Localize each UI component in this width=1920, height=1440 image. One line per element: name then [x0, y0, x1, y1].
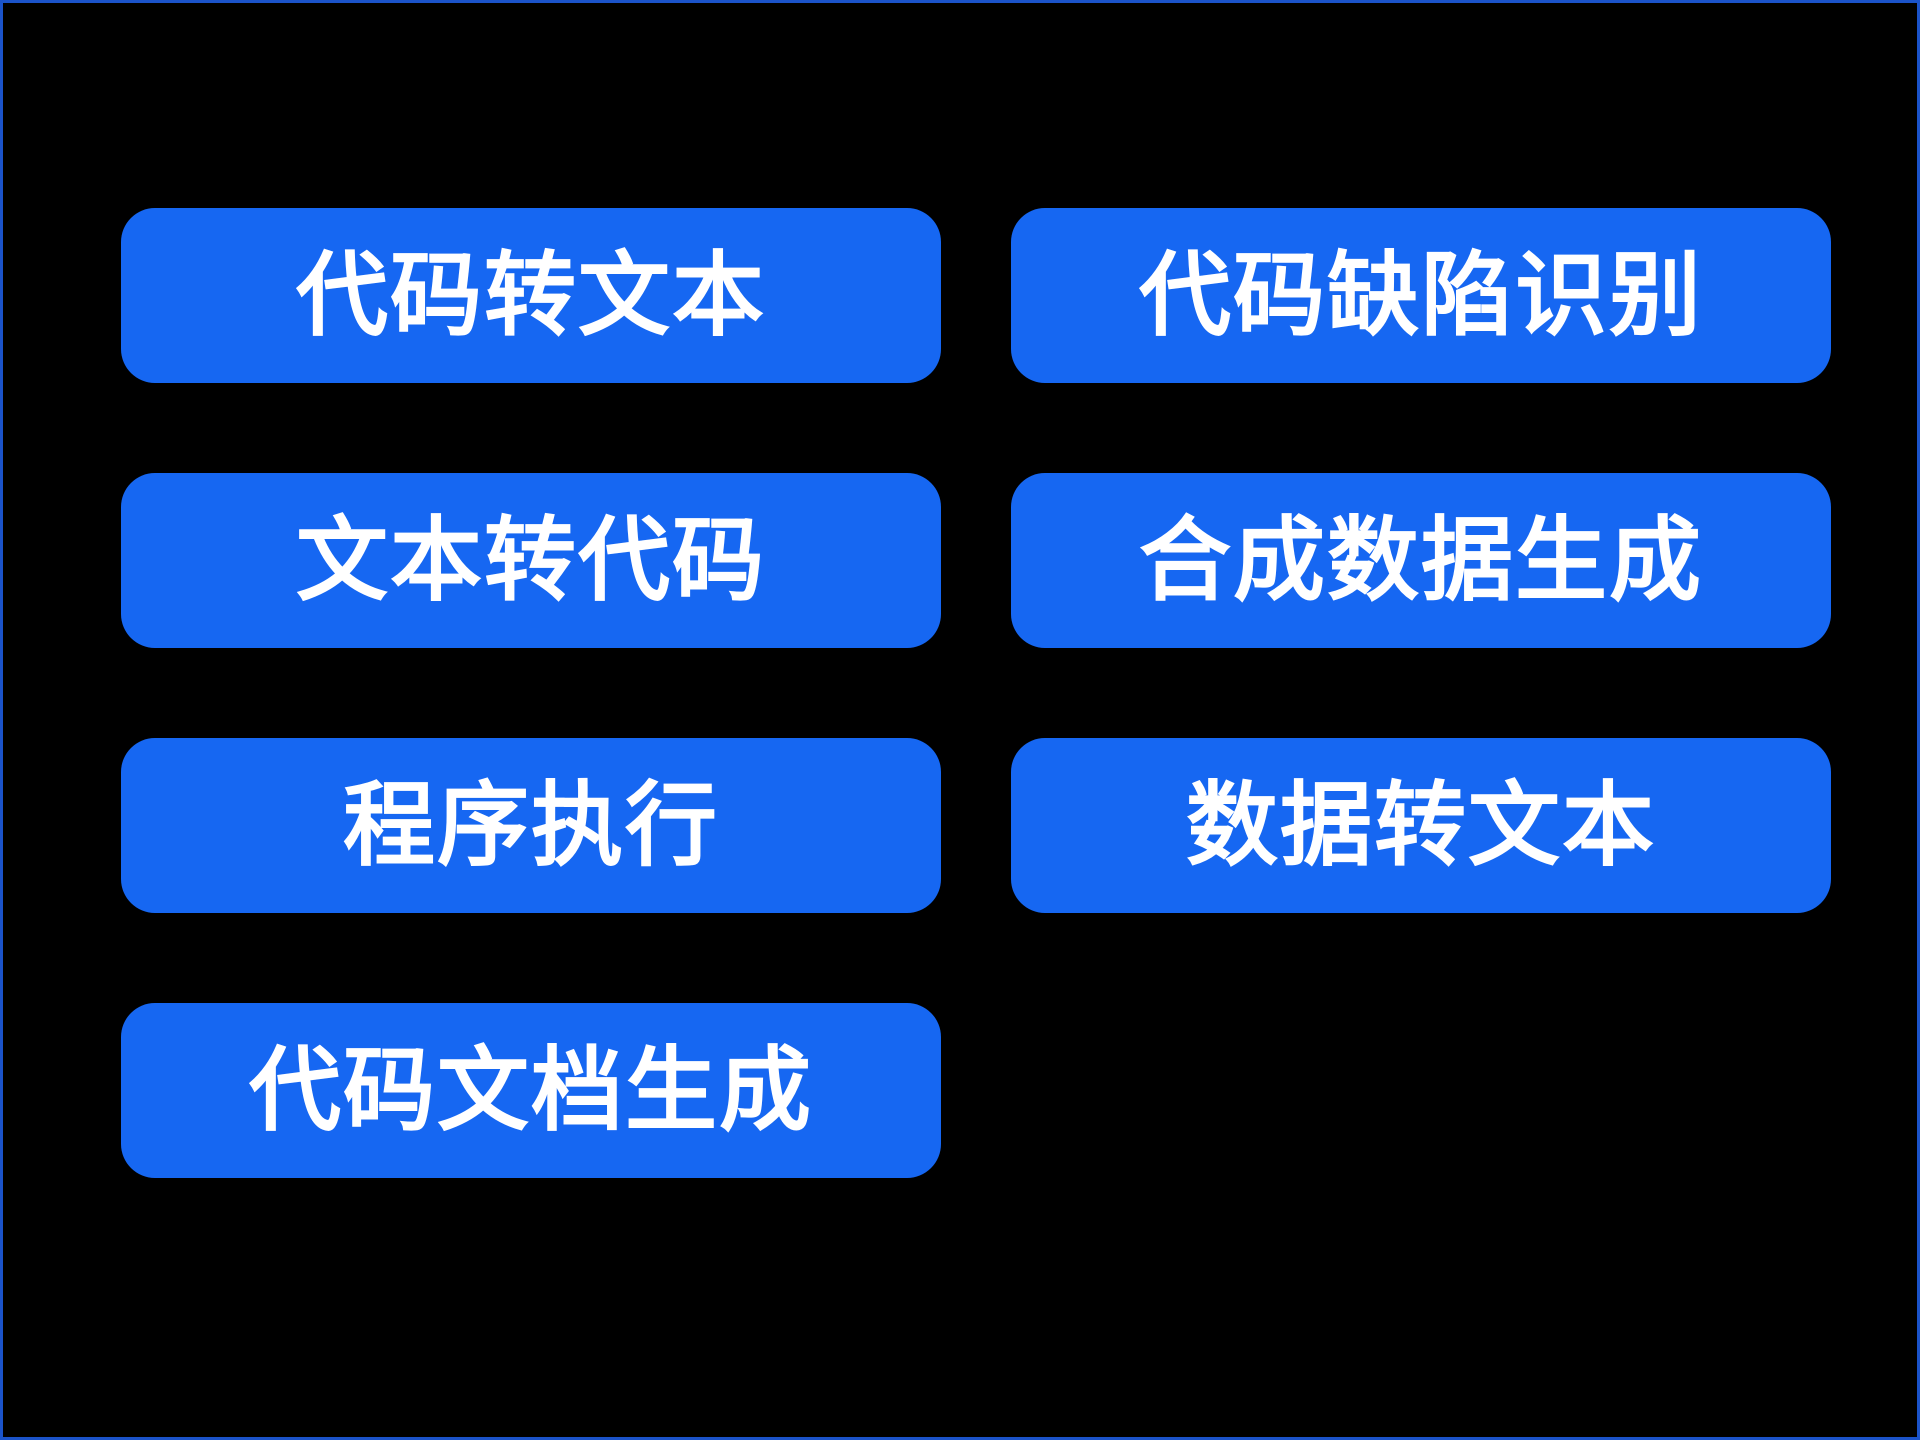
capability-button-label: 代码缺陷识别 [1139, 250, 1703, 342]
capability-button-label: 代码文档生成 [249, 1045, 813, 1137]
capability-grid: 代码转文本 文本转代码 程序执行 代码文档生成 代码缺陷识别 合成数据生成 数据… [121, 208, 1841, 1208]
capability-button-label: 合成数据生成 [1139, 515, 1703, 607]
capability-button-label: 文本转代码 [296, 515, 766, 607]
capability-button-code-to-text[interactable]: 代码转文本 [121, 208, 941, 383]
capability-button-label: 代码转文本 [296, 250, 766, 342]
capability-button-label: 程序执行 [343, 780, 719, 872]
capability-button-code-defect-detection[interactable]: 代码缺陷识别 [1011, 208, 1831, 383]
capability-button-code-doc-generation[interactable]: 代码文档生成 [121, 1003, 941, 1178]
capability-button-label: 数据转文本 [1186, 780, 1656, 872]
capability-button-synthetic-data-generation[interactable]: 合成数据生成 [1011, 473, 1831, 648]
capability-button-program-execution[interactable]: 程序执行 [121, 738, 941, 913]
capability-button-data-to-text[interactable]: 数据转文本 [1011, 738, 1831, 913]
capability-board: 代码转文本 文本转代码 程序执行 代码文档生成 代码缺陷识别 合成数据生成 数据… [0, 0, 1920, 1440]
capability-button-text-to-code[interactable]: 文本转代码 [121, 473, 941, 648]
